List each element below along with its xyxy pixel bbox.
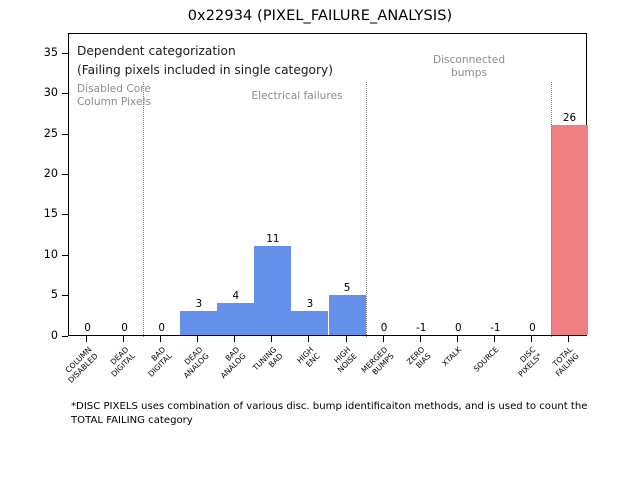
group-divider xyxy=(366,82,367,337)
x-tick-mark xyxy=(123,336,124,342)
x-tick-mark xyxy=(568,336,569,342)
x-tick-mark xyxy=(271,336,272,342)
y-tick-label: 30 xyxy=(30,86,58,99)
bar xyxy=(551,125,588,335)
bar-value-label: 5 xyxy=(317,282,377,294)
bar-value-label: 11 xyxy=(243,233,303,245)
annotation-dependent-categorization: Dependent categorization xyxy=(77,45,236,58)
annotation-disconnected-bumps: Disconnected bumps xyxy=(399,54,539,81)
bar-value-label: 26 xyxy=(539,112,599,124)
x-tick-mark xyxy=(531,336,532,342)
y-tick-label: 20 xyxy=(30,167,58,180)
annotation-electrical-failures: Electrical failures xyxy=(217,90,377,103)
x-tick-mark xyxy=(494,336,495,342)
x-tick-mark xyxy=(160,336,161,342)
plot-area: 0003411350-10-1026 Dependent categorizat… xyxy=(68,33,587,336)
x-tick-mark xyxy=(346,336,347,342)
x-tick-mark xyxy=(197,336,198,342)
group-divider xyxy=(143,82,144,337)
x-tick-mark xyxy=(86,336,87,342)
y-tick-label: 15 xyxy=(30,207,58,220)
y-tick-label: 0 xyxy=(30,329,58,342)
bar xyxy=(291,311,328,335)
y-tick-label: 35 xyxy=(30,46,58,59)
bar-value-label: 3 xyxy=(280,298,340,310)
x-tick-mark xyxy=(234,336,235,342)
page-title: 0x22934 (PIXEL_FAILURE_ANALYSIS) xyxy=(0,8,640,24)
annotation-failing-pixels: (Failing pixels included in single categ… xyxy=(77,64,333,77)
footnote: *DISC PIXELS uses combination of various… xyxy=(71,400,591,428)
bar-value-label: 4 xyxy=(206,290,266,302)
x-tick-mark xyxy=(308,336,309,342)
y-tick-label: 10 xyxy=(30,248,58,261)
bar-value-label: 0 xyxy=(502,322,562,334)
bar-value-label: 0 xyxy=(132,322,192,334)
y-tick-label: 5 xyxy=(30,288,58,301)
x-tick-mark xyxy=(457,336,458,342)
x-tick-mark xyxy=(383,336,384,342)
y-tick-label: 25 xyxy=(30,127,58,140)
annotation-disabled-core-column-pixels: Disabled Core Column Pixels xyxy=(77,83,151,110)
x-tick-mark xyxy=(420,336,421,342)
